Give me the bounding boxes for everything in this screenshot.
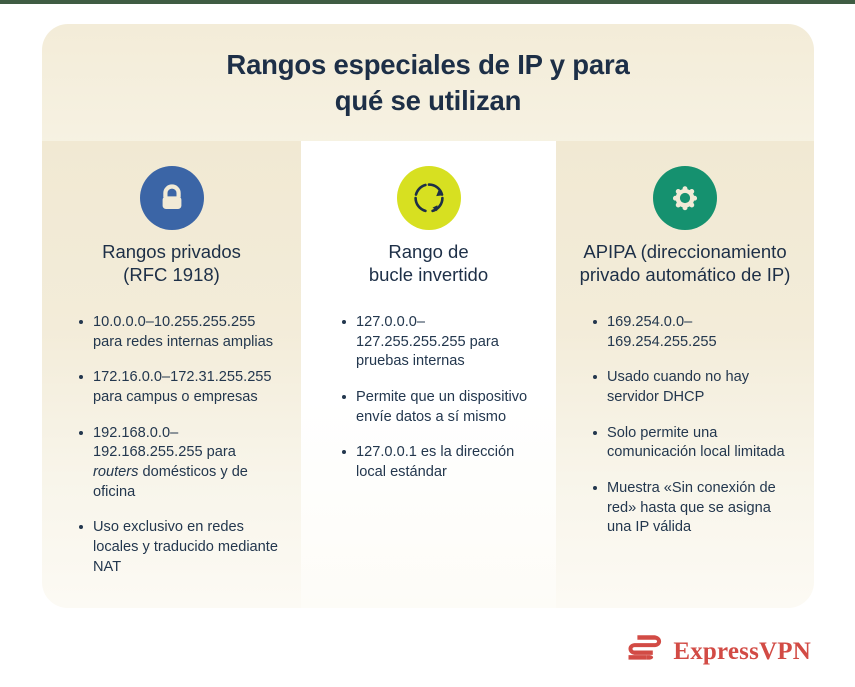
column-heading-line-1: APIPA (direccionamiento bbox=[583, 241, 786, 262]
lock-icon bbox=[140, 166, 204, 230]
icon-wrap-private-ranges bbox=[64, 166, 279, 230]
title-section: Rangos especiales de IP y para qué se ut… bbox=[42, 24, 814, 141]
list-item-text: 127.0.0.1 es la dirección local estándar bbox=[356, 444, 514, 480]
column-heading-line-2: privado automático de IP) bbox=[580, 264, 791, 285]
column-heading-line-1: Rangos privados bbox=[102, 241, 241, 262]
list-item-emphasis: routers bbox=[93, 464, 138, 480]
list-item: Solo permite una comunicación local limi… bbox=[590, 424, 792, 463]
column-heading-line-2: (RFC 1918) bbox=[123, 264, 220, 285]
page-title-line-1: Rangos especiales de IP y para bbox=[226, 49, 629, 80]
page-title: Rangos especiales de IP y para qué se ut… bbox=[186, 47, 669, 117]
list-item: 127.0.0.0–127.255.255.255 para pruebas i… bbox=[339, 313, 534, 372]
bullet-list-loopback-range: 127.0.0.0–127.255.255.255 para pruebas i… bbox=[323, 313, 534, 483]
list-item-text: 192.168.0.0–192.168.255.255 para bbox=[93, 425, 236, 461]
bullet-list-private-ranges: 10.0.0.0–10.255.255.255 para redes inter… bbox=[64, 313, 279, 578]
list-item-text: Uso exclusivo en redes locales y traduci… bbox=[93, 519, 278, 574]
top-accent-bar bbox=[0, 0, 855, 4]
list-item: 172.16.0.0–172.31.255.255 para campus o … bbox=[76, 368, 279, 407]
list-item: 10.0.0.0–10.255.255.255 para redes inter… bbox=[76, 313, 279, 352]
expressvpn-logo-icon bbox=[625, 634, 663, 669]
list-item-text: 169.254.0.0–169.254.255.255 bbox=[607, 314, 717, 350]
infographic-card: Rangos especiales de IP y para qué se ut… bbox=[42, 24, 814, 608]
list-item: Uso exclusivo en redes locales y traduci… bbox=[76, 518, 279, 577]
list-item-text: 10.0.0.0–10.255.255.255 para redes inter… bbox=[93, 314, 273, 350]
list-item: Usado cuando no hay servidor DHCP bbox=[590, 368, 792, 407]
list-item: 169.254.0.0–169.254.255.255 bbox=[590, 313, 792, 352]
column-heading-line-2: bucle invertido bbox=[369, 264, 488, 285]
list-item-text: Permite que un dispositivo envíe datos a… bbox=[356, 389, 527, 425]
list-item: 192.168.0.0–192.168.255.255 para routers… bbox=[76, 424, 279, 503]
column-apipa: APIPA (direccionamiento privado automáti… bbox=[556, 141, 814, 608]
list-item: Muestra «Sin conexión de red» hasta que … bbox=[590, 479, 792, 538]
icon-wrap-loopback-range bbox=[323, 166, 534, 230]
bullet-list-apipa: 169.254.0.0–169.254.255.255 Usado cuando… bbox=[578, 313, 792, 538]
list-item: Permite que un dispositivo envíe datos a… bbox=[339, 388, 534, 427]
list-item-text: Usado cuando no hay servidor DHCP bbox=[607, 369, 749, 405]
column-heading-loopback-range: Rango de bucle invertido bbox=[323, 241, 534, 287]
brand-lockup: ExpressVPN bbox=[625, 634, 811, 669]
list-item-text: 172.16.0.0–172.31.255.255 para campus o … bbox=[93, 369, 272, 405]
column-private-ranges: Rangos privados (RFC 1918) 10.0.0.0–10.2… bbox=[42, 141, 301, 608]
list-item: 127.0.0.1 es la dirección local estándar bbox=[339, 443, 534, 482]
icon-wrap-apipa bbox=[578, 166, 792, 230]
list-item-text: 127.0.0.0–127.255.255.255 para pruebas i… bbox=[356, 314, 499, 369]
loop-arrow-icon bbox=[397, 166, 461, 230]
list-item-text: Muestra «Sin conexión de red» hasta que … bbox=[607, 480, 776, 535]
gear-icon bbox=[653, 166, 717, 230]
column-heading-apipa: APIPA (direccionamiento privado automáti… bbox=[566, 241, 804, 287]
page-title-line-2: qué se utilizan bbox=[335, 85, 521, 116]
columns-container: Rangos privados (RFC 1918) 10.0.0.0–10.2… bbox=[42, 141, 814, 608]
column-loopback-range: Rango de bucle invertido 127.0.0.0–127.2… bbox=[301, 141, 556, 608]
column-heading-private-ranges: Rangos privados (RFC 1918) bbox=[64, 241, 279, 287]
column-heading-line-1: Rango de bbox=[388, 241, 468, 262]
list-item-text: Solo permite una comunicación local limi… bbox=[607, 425, 785, 461]
brand-name: ExpressVPN bbox=[673, 638, 811, 666]
